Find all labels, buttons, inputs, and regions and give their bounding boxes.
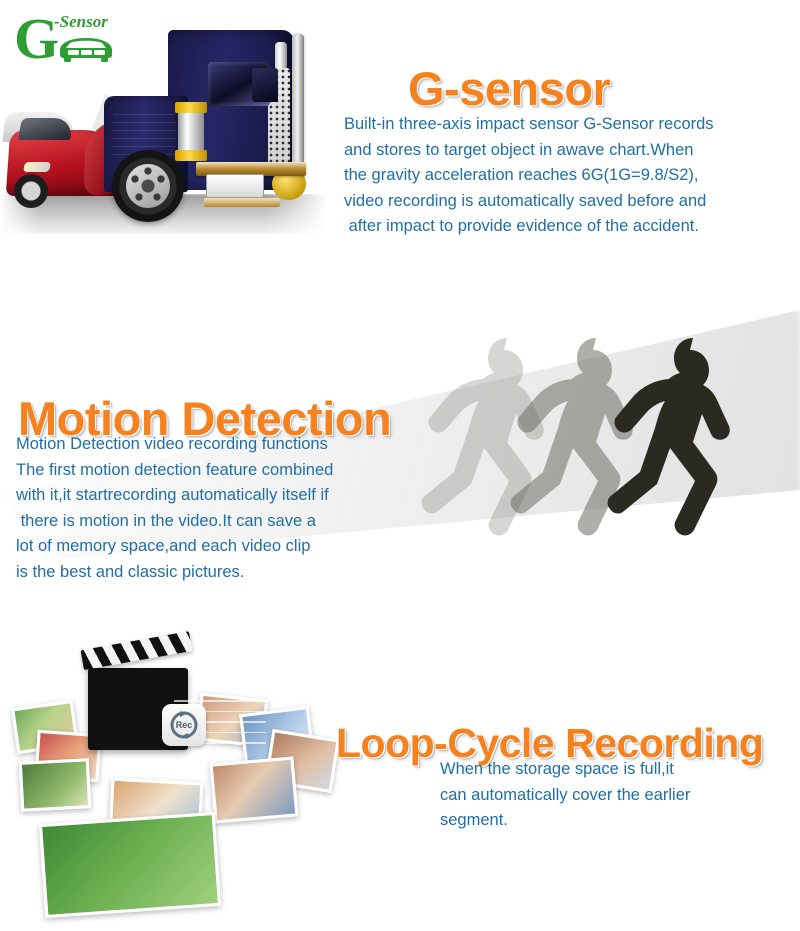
running-silhouettes-image bbox=[398, 300, 800, 600]
body-line: can automatically cover the earlier bbox=[440, 783, 790, 809]
photo-collage-image: Rec bbox=[6, 648, 336, 908]
car-headlight bbox=[23, 162, 51, 172]
body-line: and stores to target object in awave cha… bbox=[344, 138, 794, 164]
g-sensor-logo: G -Sensor bbox=[14, 6, 126, 68]
truck-wheel bbox=[112, 150, 184, 222]
truck-licence-plate bbox=[206, 174, 264, 198]
body-line: there is motion in the video.It can save… bbox=[16, 509, 436, 535]
logo-sensor-word: -Sensor bbox=[54, 12, 108, 32]
body-line: the gravity acceleration reaches 6G(1G=9… bbox=[344, 163, 794, 189]
body-line: segment. bbox=[440, 808, 790, 834]
logo-letter-g: G bbox=[14, 10, 59, 68]
collage-photo bbox=[210, 756, 299, 823]
body-line: Motion Detection video recording functio… bbox=[16, 432, 436, 458]
promo-page: G -Sensor G-sensor Built-in three-axis i… bbox=[0, 0, 800, 931]
body-text-g-sensor: Built-in three-axis impact sensor G-Sens… bbox=[344, 112, 794, 240]
clapperboard-arm bbox=[81, 631, 193, 670]
truck-tank-trim-top bbox=[175, 102, 207, 113]
collage-photo bbox=[19, 758, 92, 812]
runner-silhouette-solid bbox=[583, 334, 765, 584]
car-icon bbox=[54, 32, 118, 62]
body-text-motion-detection: Motion Detection video recording functio… bbox=[16, 432, 436, 585]
collage-photo-main bbox=[39, 812, 221, 918]
body-line: lot of memory space,and each video clip bbox=[16, 534, 436, 560]
body-line: Built-in three-axis impact sensor G-Sens… bbox=[344, 112, 794, 138]
rec-label: Rec bbox=[176, 720, 193, 730]
page-title-g-sensor: G-sensor bbox=[408, 61, 610, 116]
truck-tank-trim-bottom bbox=[175, 150, 207, 161]
truck-fuel-tank bbox=[178, 108, 204, 154]
car-windshield bbox=[18, 118, 74, 140]
body-line: with it,it startrecording automatically … bbox=[16, 483, 436, 509]
car-wheel bbox=[14, 174, 48, 208]
body-line: When the storage space is full,it bbox=[440, 757, 790, 783]
truck-side-window bbox=[252, 68, 278, 102]
body-line: is the best and classic pictures. bbox=[16, 560, 436, 586]
body-line: The first motion detection feature combi… bbox=[16, 458, 436, 484]
truck-step-bar bbox=[204, 198, 280, 207]
body-line: after impact to provide evidence of the … bbox=[344, 214, 794, 240]
rec-icon: Rec bbox=[162, 704, 206, 746]
body-line: video recording is automatically saved b… bbox=[344, 189, 794, 215]
body-text-loop-cycle-recording: When the storage space is full,it can au… bbox=[440, 757, 790, 834]
